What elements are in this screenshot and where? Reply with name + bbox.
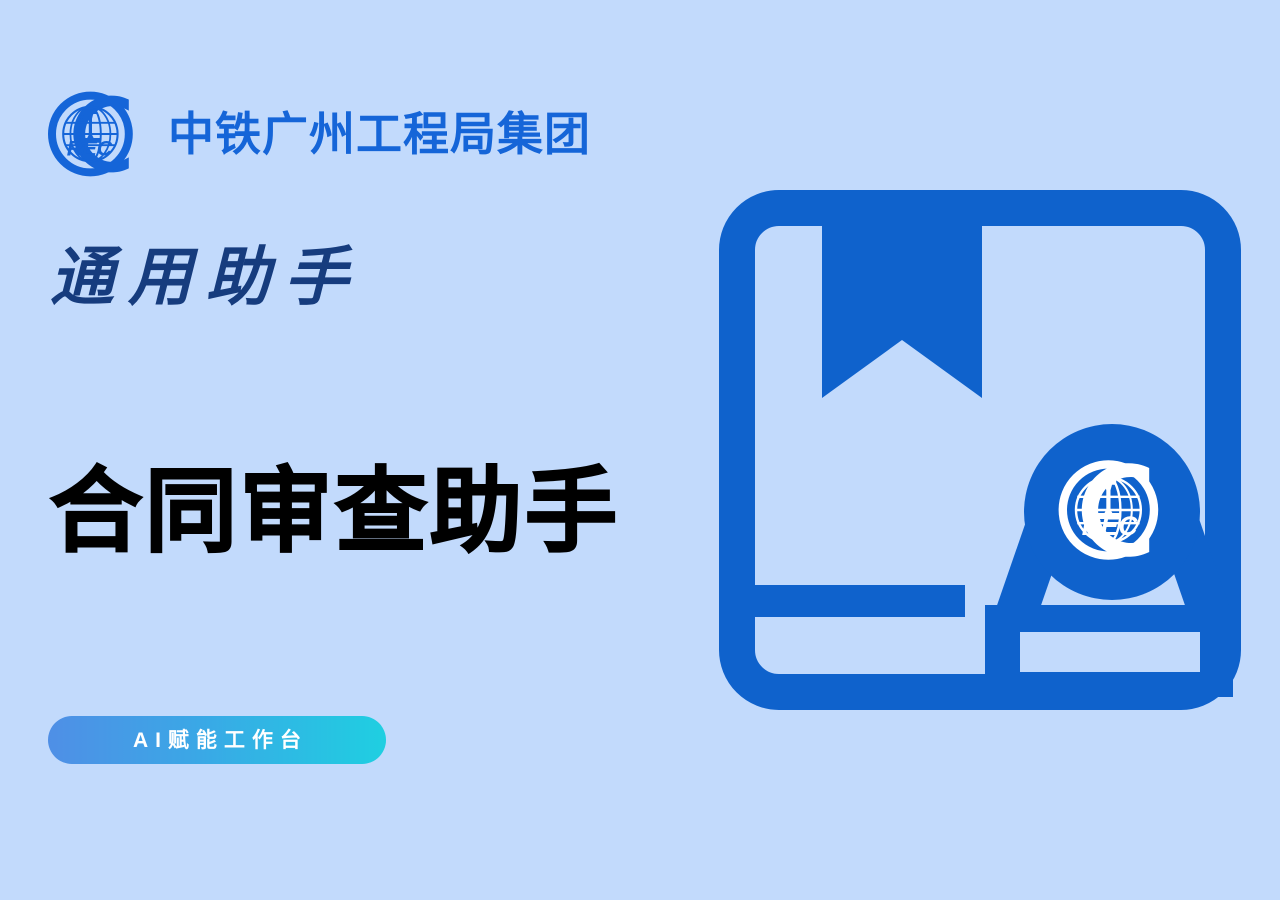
svg-text:REC: REC: [67, 136, 113, 161]
svg-text:REC: REC: [1082, 511, 1139, 541]
badge-label: AI赋能工作台: [126, 730, 308, 751]
brand-name: 中铁广州工程局集团: [168, 111, 591, 157]
contract-book-award-illustration: REC: [700, 180, 1260, 720]
award-base-group: [985, 605, 1233, 697]
status-badge: AI赋能工作台: [48, 716, 386, 764]
award-seal-group: REC: [1024, 424, 1200, 600]
subtitle-text: 通用助手: [50, 246, 362, 310]
creg-globe-rail-logo-icon: REC: [48, 90, 152, 178]
creg-logo-on-seal-icon: REC: [1063, 463, 1154, 557]
cover-page: REC 中铁广州工程局集团 通用助手 合同审查助手 AI赋能工作台: [0, 0, 1280, 900]
bookmark-ribbon-group: [822, 226, 982, 398]
page-title: 合同审查助手: [50, 466, 620, 558]
brand-header: REC 中铁广州工程局集团: [48, 90, 591, 178]
